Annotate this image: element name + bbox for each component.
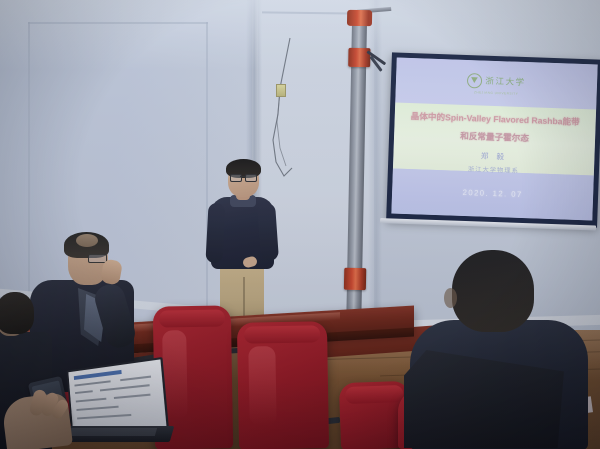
laptop-text-line — [100, 384, 150, 391]
pipe-flange — [343, 268, 365, 290]
seated-attendee-right — [404, 246, 600, 449]
laptop-text-line — [76, 406, 118, 411]
pipe-top-fitting — [347, 10, 372, 26]
laptop-text-line — [75, 390, 93, 394]
laptop-text-line — [76, 398, 107, 403]
chair-headrest — [345, 385, 404, 404]
university-crest-icon — [467, 73, 483, 89]
laptop-screen — [67, 357, 170, 436]
laptop-text-line — [120, 376, 151, 382]
attendee-right-head — [452, 250, 534, 332]
university-logo-text: 浙江大学 — [485, 75, 526, 88]
attendee-far-left-hair — [0, 292, 34, 334]
presenter-eyeglasses-bridge — [240, 176, 245, 177]
presenter-arm-left — [205, 203, 225, 264]
wall-panel-line — [28, 22, 208, 24]
attendee-right-ear — [444, 288, 457, 308]
chair-headrest — [159, 309, 225, 327]
red-chair — [237, 321, 329, 449]
screen-surface: 浙江大学 ZHEJIANG UNIVERSITY 晶体中的Spin-Valley… — [391, 58, 597, 221]
photo-scene: 浙江大学 ZHEJIANG UNIVERSITY 晶体中的Spin-Valley… — [0, 0, 600, 449]
attendee-left-forehead — [76, 234, 98, 247]
presenter-arm-right — [257, 202, 279, 261]
chair-headrest — [244, 325, 320, 343]
laptop-text-line — [77, 414, 131, 419]
cable-tag — [276, 84, 286, 97]
presenter-eyeglasses — [245, 174, 257, 182]
laptop-text-line — [114, 394, 151, 399]
laptop-document-header — [74, 370, 122, 380]
open-laptop — [58, 364, 168, 449]
projection-screen: 浙江大学 ZHEJIANG UNIVERSITY 晶体中的Spin-Valley… — [386, 52, 600, 227]
laptop-keyboard — [67, 428, 157, 436]
laptop-text-line — [74, 380, 110, 386]
chair-highlight — [248, 346, 276, 425]
